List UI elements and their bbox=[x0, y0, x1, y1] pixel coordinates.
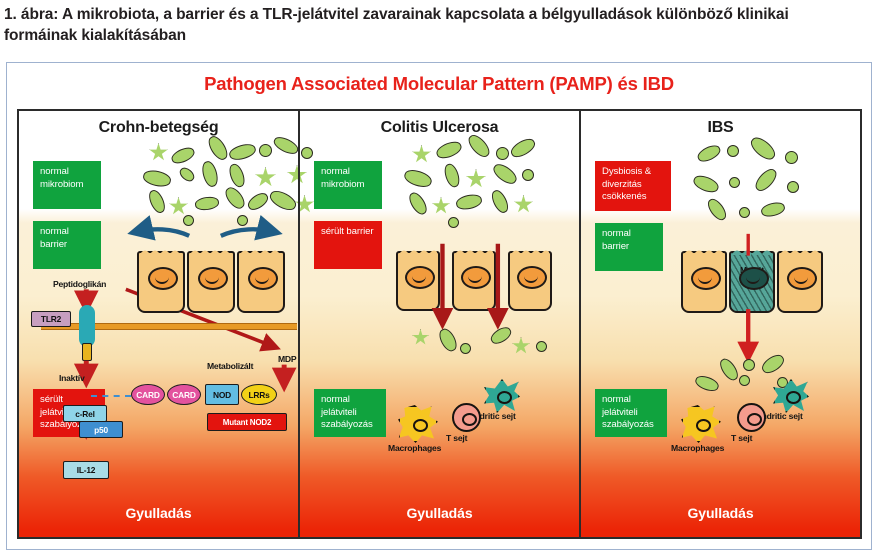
node-p50[interactable]: p50 bbox=[79, 421, 123, 438]
figure-page: 1. ábra: A mikrobiota, a barrier és a TL… bbox=[0, 0, 881, 556]
inactive-link bbox=[91, 395, 131, 397]
cell-nucleus bbox=[497, 391, 512, 404]
mdp-arrow bbox=[19, 111, 298, 537]
figure-caption: 1. ábra: A mikrobiota, a barrier és a TL… bbox=[4, 4, 864, 47]
t-cell bbox=[452, 403, 481, 432]
node-c-rel[interactable]: c-Rel bbox=[63, 405, 107, 422]
bacterium-translocated bbox=[739, 375, 750, 386]
label-t-sejt: T sejt bbox=[446, 433, 467, 443]
label-macrophages: Macrophages bbox=[388, 443, 441, 453]
panel-colitis-ulcerosa: Colitis Ulcerosa normal mikrobiom sérült… bbox=[298, 111, 579, 537]
inflammation-label-crohn: Gyulladás bbox=[19, 505, 298, 521]
panel-ibs: IBS Dysbiosis & diverzitás csökkenés nor… bbox=[579, 111, 860, 537]
label-macrophages: Macrophages bbox=[671, 443, 724, 453]
node-card-1[interactable]: CARD bbox=[131, 384, 165, 405]
panel-crohn: Crohn-betegség normal mikrobiom normal b… bbox=[19, 111, 298, 537]
cell-nucleus bbox=[413, 419, 428, 432]
figure-title: Pathogen Associated Molecular Pattern (P… bbox=[7, 73, 871, 95]
node-mutant-nod2[interactable]: Mutant NOD2 bbox=[207, 413, 287, 431]
inflammation-label-ibs: Gyulladás bbox=[581, 505, 860, 521]
m-cell-transport-arrow bbox=[581, 111, 860, 537]
node-lrrs[interactable]: LRRs bbox=[241, 384, 277, 405]
figure-frame: Pathogen Associated Molecular Pattern (P… bbox=[6, 62, 872, 550]
node-il-12[interactable]: IL-12 bbox=[63, 461, 109, 479]
t-cell bbox=[737, 403, 766, 432]
label-t-sejt: T sejt bbox=[731, 433, 752, 443]
cell-nucleus bbox=[696, 419, 711, 432]
node-card-2[interactable]: CARD bbox=[167, 384, 201, 405]
bacterium-translocated bbox=[536, 341, 547, 352]
panels-container: Crohn-betegség normal mikrobiom normal b… bbox=[17, 109, 862, 539]
bacterium-translocated bbox=[743, 359, 755, 371]
barrier-breach-arrows bbox=[300, 111, 579, 537]
cell-nucleus bbox=[786, 391, 801, 404]
cell-nucleus bbox=[462, 413, 477, 426]
inflammation-label-colitis: Gyulladás bbox=[300, 505, 579, 521]
node-nod[interactable]: NOD bbox=[205, 384, 239, 405]
bacterium-translocated bbox=[460, 343, 471, 354]
cell-nucleus bbox=[747, 413, 762, 426]
label-inaktiv: Inaktív bbox=[59, 373, 84, 383]
